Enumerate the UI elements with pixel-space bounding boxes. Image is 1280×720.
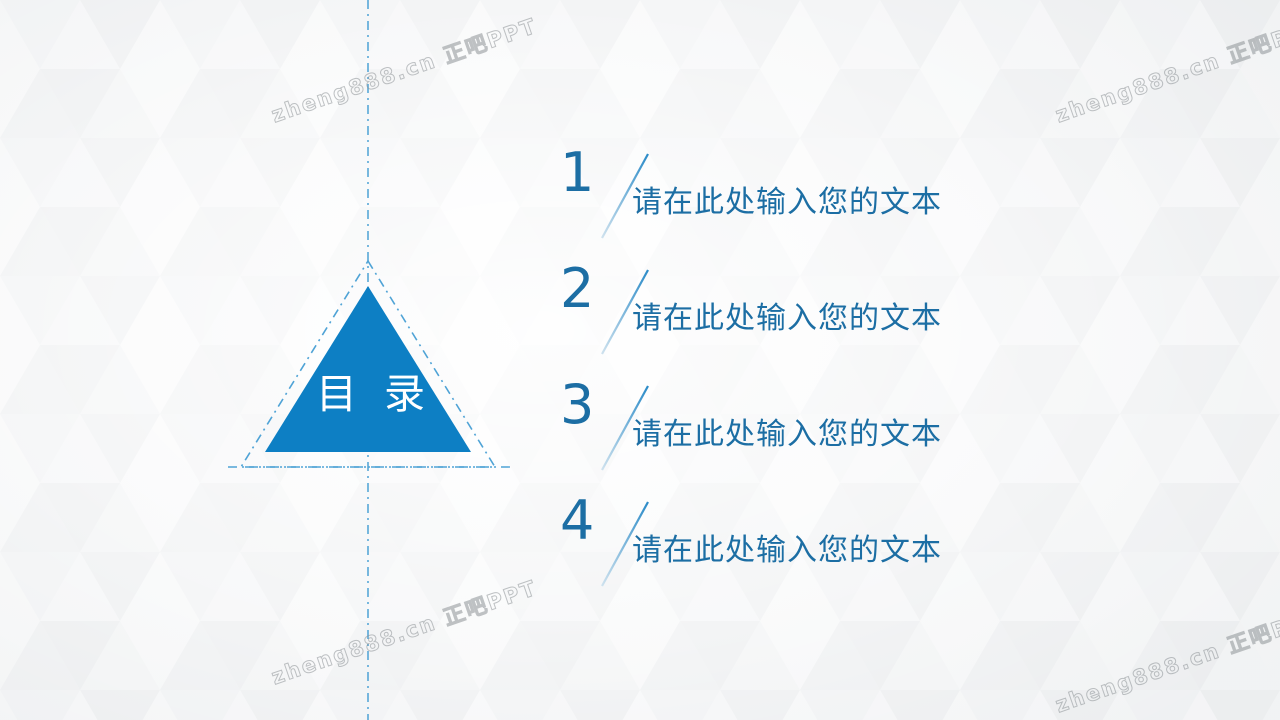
agenda-item-number: 4: [560, 494, 594, 548]
triangle-baseline-guides: [228, 248, 513, 483]
agenda-item-text: 请在此处输入您的文本: [632, 420, 942, 450]
agenda-item-number: 2: [560, 262, 594, 316]
toc-triangle-group: 目 录: [228, 248, 513, 483]
agenda-item[interactable]: 3 请在此处输入您的文本: [552, 372, 1112, 488]
watermark: zheng888.cn 正吧PPT: [1051, 600, 1280, 719]
watermark: zheng888.cn 正吧PPT: [267, 10, 541, 129]
watermark: zheng888.cn 正吧PPT: [267, 572, 541, 691]
agenda-list: 1 请在此处输入您的文本 2: [552, 140, 1112, 604]
agenda-item-text: 请在此处输入您的文本: [632, 188, 942, 218]
watermark: zheng888.cn 正吧PPT: [1051, 10, 1280, 129]
agenda-item-text: 请在此处输入您的文本: [632, 536, 942, 566]
slide-canvas: 目 录 1 请在此处输入您的文本 2: [0, 0, 1280, 720]
toc-label: 目 录: [228, 374, 513, 415]
agenda-item[interactable]: 1 请在此处输入您的文本: [552, 140, 1112, 256]
agenda-item[interactable]: 2 请在此处输入您的文本: [552, 256, 1112, 372]
agenda-item-number: 3: [560, 378, 594, 432]
agenda-item-text: 请在此处输入您的文本: [632, 304, 942, 334]
agenda-item-number: 1: [560, 146, 594, 200]
agenda-item[interactable]: 4 请在此处输入您的文本: [552, 488, 1112, 604]
